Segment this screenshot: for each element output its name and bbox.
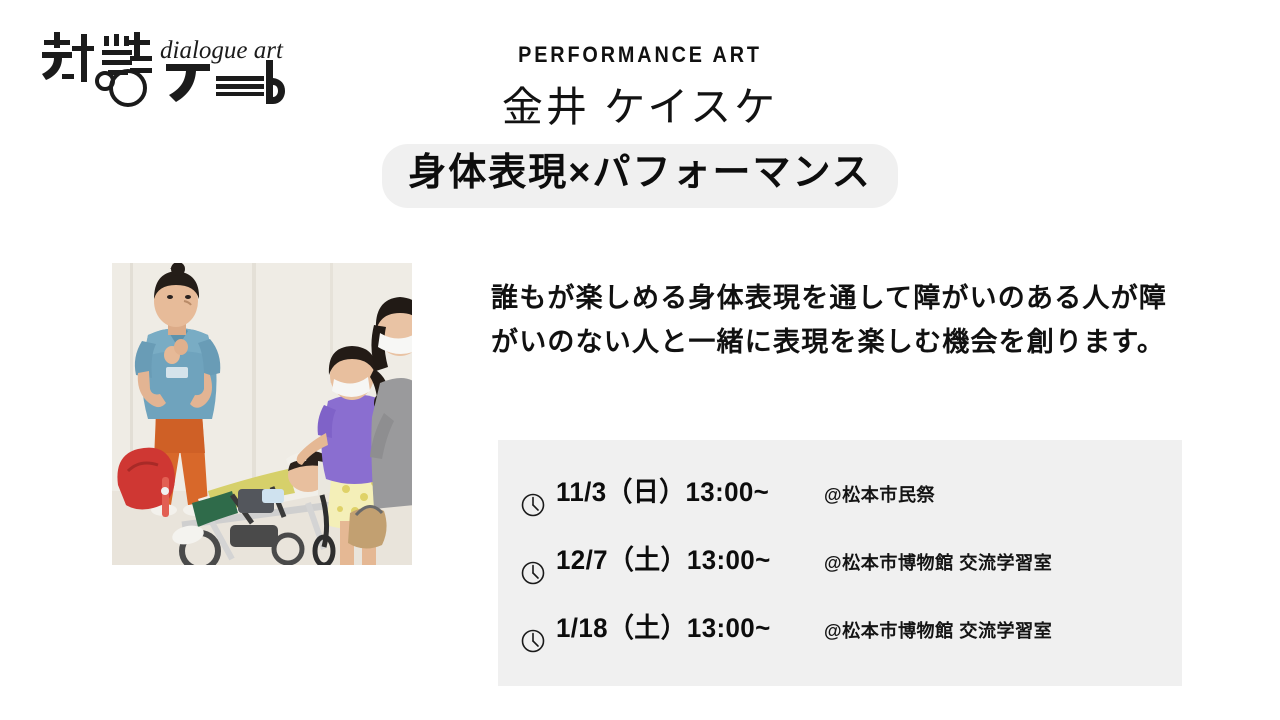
- schedule-venue: @松本市民祭: [818, 481, 1182, 507]
- title-badge: 身体表現×パフォーマンス: [382, 144, 897, 208]
- clock-icon: [520, 560, 546, 586]
- schedule-date: 11/3（日）13:00~: [556, 470, 808, 509]
- section-eyebrow: PERFORMANCE ART: [64, 42, 1216, 68]
- clock-icon: [520, 628, 546, 654]
- workshop-photo: [112, 263, 412, 565]
- artist-name: 金井 ケイスケ: [0, 84, 1280, 131]
- schedule-panel: 11/3（日）13:00~ @松本市民祭 12/7（土）13:00~ @松本市博…: [498, 440, 1182, 686]
- schedule-venue: @松本市博物館 交流学習室: [818, 549, 1182, 575]
- title-badge-wrap: 身体表現×パフォーマンス: [0, 144, 1280, 208]
- schedule-row: 1/18（土）13:00~ @松本市博物館 交流学習室: [498, 606, 1182, 674]
- schedule-row: 12/7（土）13:00~ @松本市博物館 交流学習室: [498, 538, 1182, 606]
- schedule-venue: @松本市博物館 交流学習室: [818, 617, 1182, 643]
- clock-icon: [520, 492, 546, 518]
- schedule-row: 11/3（日）13:00~ @松本市民祭: [498, 470, 1182, 538]
- program-description: 誰もが楽しめる身体表現を通して障がいのある人が障がいのない人と一緒に表現を楽しむ…: [491, 277, 1185, 364]
- schedule-date: 12/7（土）13:00~: [556, 538, 808, 577]
- schedule-date: 1/18（土）13:00~: [556, 606, 808, 645]
